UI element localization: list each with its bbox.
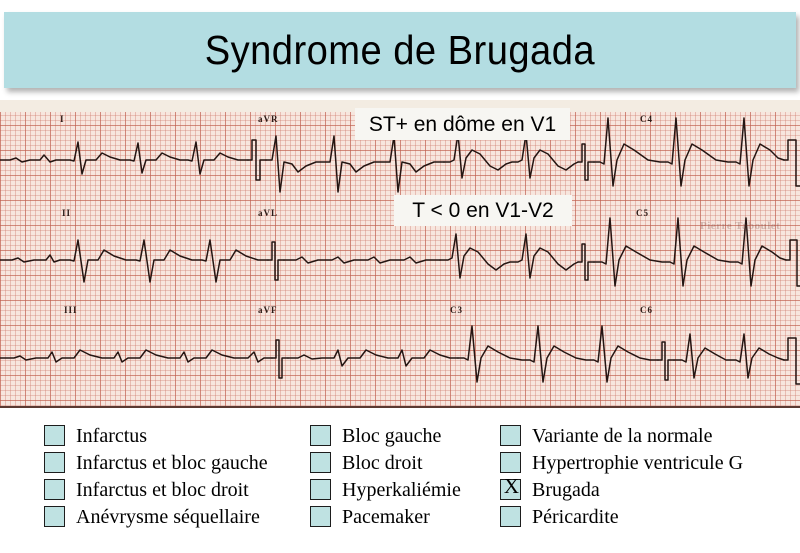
answer-option-bloc-gauche[interactable]: Bloc gauche xyxy=(310,422,461,449)
answer-label: Bloc droit xyxy=(342,453,423,473)
checkbox-icon[interactable] xyxy=(44,506,65,527)
answer-label: Hypertrophie ventricule G xyxy=(532,453,743,473)
answer-label: Péricardite xyxy=(532,507,619,527)
lead-label-i: I xyxy=(60,114,65,124)
answer-option-bloc-droit[interactable]: Bloc droit xyxy=(310,449,461,476)
lead-label-avl: aVL xyxy=(258,208,278,218)
answer-label: Variante de la normale xyxy=(532,426,712,446)
lead-label-avf: aVF xyxy=(258,305,278,315)
checkbox-icon[interactable] xyxy=(500,452,521,473)
checkbox-icon[interactable] xyxy=(310,479,331,500)
checkbox-icon[interactable] xyxy=(310,506,331,527)
answer-label: Bloc gauche xyxy=(342,426,441,446)
ecg-strip: I aVR C1 C4 II aVL C2 C5 III aVF C3 C6 P… xyxy=(0,100,800,408)
lead-label-c3: C3 xyxy=(450,305,463,315)
annotation-st-elevation: ST+ en dôme en V1 xyxy=(355,108,570,140)
answer-label: Anévrysme séquellaire xyxy=(76,507,260,527)
checkbox-icon[interactable] xyxy=(44,479,65,500)
answer-option-hypertrophie-ventricule-g[interactable]: Hypertrophie ventricule G xyxy=(500,449,743,476)
checkbox-icon[interactable] xyxy=(44,452,65,473)
answer-label: Infarctus xyxy=(76,426,147,446)
answer-column-1: Infarctus Infarctus et bloc gauche Infar… xyxy=(44,422,268,530)
answer-option-brugada[interactable]: X Brugada xyxy=(500,476,743,503)
answer-option-infarctus-bloc-droit[interactable]: Infarctus et bloc droit xyxy=(44,476,268,503)
ecg-watermark: Pierre Taboulet xyxy=(700,220,780,232)
lead-label-c4: C4 xyxy=(640,114,653,124)
lead-label-avr: aVR xyxy=(258,114,279,124)
checkbox-icon[interactable] xyxy=(44,425,65,446)
lead-label-iii: III xyxy=(64,305,78,315)
title-banner: Syndrome de Brugada xyxy=(4,12,796,88)
lead-label-ii: II xyxy=(62,208,71,218)
checkbox-icon[interactable]: X xyxy=(500,479,521,500)
answer-label: Brugada xyxy=(532,480,600,500)
checkbox-icon[interactable] xyxy=(500,425,521,446)
lead-label-c5: C5 xyxy=(636,208,649,218)
answer-option-hyperkaliemie[interactable]: Hyperkaliémie xyxy=(310,476,461,503)
answer-option-pacemaker[interactable]: Pacemaker xyxy=(310,503,461,530)
lead-label-c6: C6 xyxy=(640,305,653,315)
checkbox-icon[interactable] xyxy=(310,425,331,446)
annotation-t-wave-inversion: T < 0 en V1-V2 xyxy=(394,195,572,226)
answer-option-infarctus[interactable]: Infarctus xyxy=(44,422,268,449)
answer-column-2: Bloc gauche Bloc droit Hyperkaliémie Pac… xyxy=(310,422,461,530)
answer-option-pericardite[interactable]: Péricardite xyxy=(500,503,743,530)
answer-label: Infarctus et bloc gauche xyxy=(76,453,268,473)
answer-label: Hyperkaliémie xyxy=(342,480,461,500)
answer-option-variante-normale[interactable]: Variante de la normale xyxy=(500,422,743,449)
answer-checklist: Infarctus Infarctus et bloc gauche Infar… xyxy=(0,412,800,553)
answer-column-3: Variante de la normale Hypertrophie vent… xyxy=(500,422,743,530)
answer-label: Infarctus et bloc droit xyxy=(76,480,249,500)
checkbox-icon[interactable] xyxy=(310,452,331,473)
answer-option-anevrysme-sequellaire[interactable]: Anévrysme séquellaire xyxy=(44,503,268,530)
ecg-grid-paper xyxy=(0,100,800,406)
slide-root: Syndrome de Brugada xyxy=(0,0,800,553)
checkbox-icon[interactable] xyxy=(500,506,521,527)
answer-label: Pacemaker xyxy=(342,507,430,527)
check-mark: X xyxy=(501,476,522,497)
answer-option-infarctus-bloc-gauche[interactable]: Infarctus et bloc gauche xyxy=(44,449,268,476)
page-title: Syndrome de Brugada xyxy=(205,30,595,71)
